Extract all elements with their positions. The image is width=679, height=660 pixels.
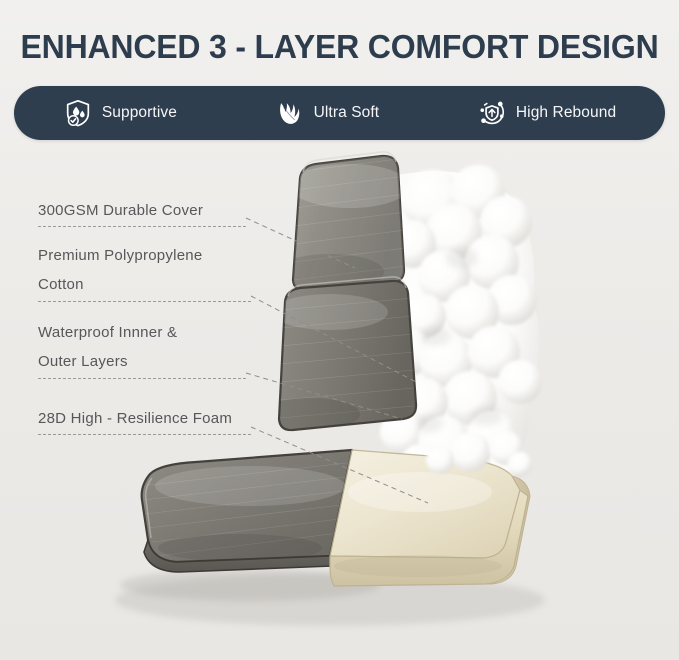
callout-text: 28D High - Resilience Foam <box>38 404 251 433</box>
callout-waterproof: Waterproof Innner & Outer Layers <box>38 318 246 379</box>
callout-underline <box>38 378 246 379</box>
callout-text-line2: Cotton <box>38 270 251 299</box>
callout-text-line1: Premium Polypropylene <box>38 241 251 270</box>
callout-underline <box>38 301 251 302</box>
callout-underline <box>38 226 246 227</box>
callout-foam: 28D High - Resilience Foam <box>38 404 251 435</box>
callout-text-line1: Waterproof Innner & <box>38 318 246 347</box>
infographic-canvas: ENHANCED 3 - LAYER COMFORT DESIGN Suppor… <box>0 0 679 660</box>
callout-cover: 300GSM Durable Cover <box>38 196 246 227</box>
seat-fabric-section <box>140 450 356 572</box>
callout-underline <box>38 434 251 435</box>
callout-text-line2: Outer Layers <box>38 347 246 376</box>
backrest-cushion <box>260 277 416 430</box>
seat-foam-section <box>330 450 530 586</box>
callout-cotton: Premium Polypropylene Cotton <box>38 241 251 302</box>
callout-text: 300GSM Durable Cover <box>38 196 246 225</box>
